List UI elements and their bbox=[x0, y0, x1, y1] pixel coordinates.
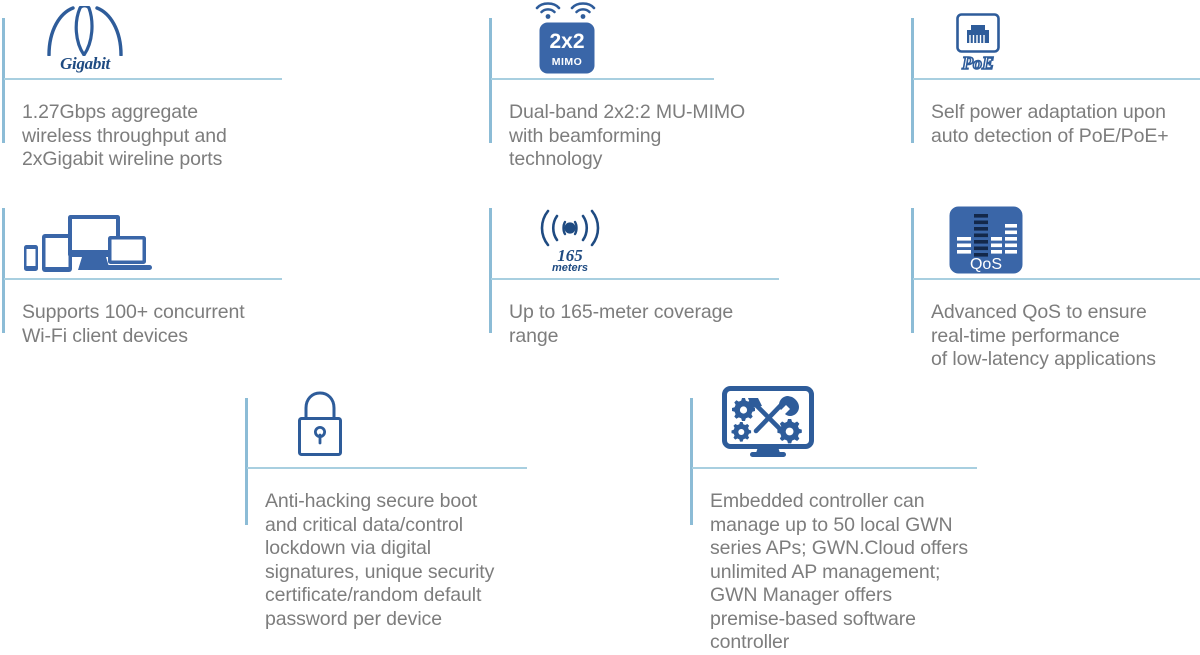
horizontal-rule bbox=[247, 467, 527, 469]
feature-gigabit: Gigabit 1.27Gbps aggregate wireless thro… bbox=[2, 18, 292, 178]
poe-rj45-icon: PoE bbox=[956, 2, 1036, 74]
svg-text:MIMO: MIMO bbox=[552, 56, 583, 68]
multi-device-icon bbox=[22, 208, 162, 274]
feature-description: Anti-hacking secure boot and critical da… bbox=[265, 490, 555, 631]
horizontal-rule bbox=[491, 78, 714, 80]
poe-icon-label: PoE bbox=[962, 53, 994, 74]
vertical-rule bbox=[245, 398, 248, 525]
svg-text:QoS: QoS bbox=[970, 256, 1002, 273]
gigabit-wings-icon: Gigabit bbox=[42, 2, 132, 74]
horizontal-rule bbox=[913, 278, 1200, 280]
feature-description: Self power adaptation upon auto detectio… bbox=[931, 101, 1200, 148]
feature-coverage: 165 meters Up to 165-meter coverage rang… bbox=[489, 208, 779, 368]
feature-qos: QoS Advanced QoS to ensure real-time per… bbox=[911, 208, 1200, 373]
horizontal-rule bbox=[4, 278, 282, 280]
svg-text:2x2: 2x2 bbox=[549, 30, 584, 53]
horizontal-rule bbox=[491, 278, 779, 280]
vertical-rule bbox=[2, 208, 5, 333]
vertical-rule bbox=[489, 18, 492, 143]
vertical-rule bbox=[489, 208, 492, 333]
horizontal-rule bbox=[692, 467, 977, 469]
2x2-mimo-icon: 2x2 MIMO bbox=[534, 0, 614, 74]
feature-poe: PoE Self power adaptation upon auto dete… bbox=[911, 18, 1200, 178]
feature-description: Advanced QoS to ensure real-time perform… bbox=[931, 301, 1200, 372]
feature-description: Supports 100+ concurrent Wi-Fi client de… bbox=[22, 301, 302, 348]
horizontal-rule bbox=[4, 78, 282, 80]
feature-security: Anti-hacking secure boot and critical da… bbox=[245, 398, 535, 638]
vertical-rule bbox=[690, 398, 693, 525]
feature-controller: Embedded controller can manage up to 50 … bbox=[690, 398, 990, 638]
horizontal-rule bbox=[913, 78, 1200, 80]
feature-description: 1.27Gbps aggregate wireless throughput a… bbox=[22, 101, 297, 172]
feature-description: Dual-band 2x2:2 MU-MIMO with beamforming… bbox=[509, 101, 789, 172]
monitor-tools-gears-icon bbox=[722, 376, 822, 458]
vertical-rule bbox=[911, 208, 914, 333]
vertical-rule bbox=[911, 18, 914, 143]
range-unit-label: meters bbox=[552, 263, 588, 274]
vertical-rule bbox=[2, 18, 5, 143]
gigabit-icon-label: Gigabit bbox=[60, 54, 110, 74]
padlock-icon bbox=[293, 376, 373, 458]
feature-clients: Supports 100+ concurrent Wi-Fi client de… bbox=[2, 208, 292, 368]
qos-equalizer-icon: QoS bbox=[949, 200, 1039, 274]
feature-description: Embedded controller can manage up to 50 … bbox=[710, 490, 1010, 655]
feature-description: Up to 165-meter coverage range bbox=[509, 301, 799, 348]
range-value-label: 165 bbox=[557, 248, 583, 263]
signal-range-165-icon: 165 meters bbox=[534, 206, 624, 274]
feature-mimo: 2x2 MIMO Dual-band 2x2:2 MU-MIMO with be… bbox=[489, 18, 779, 178]
